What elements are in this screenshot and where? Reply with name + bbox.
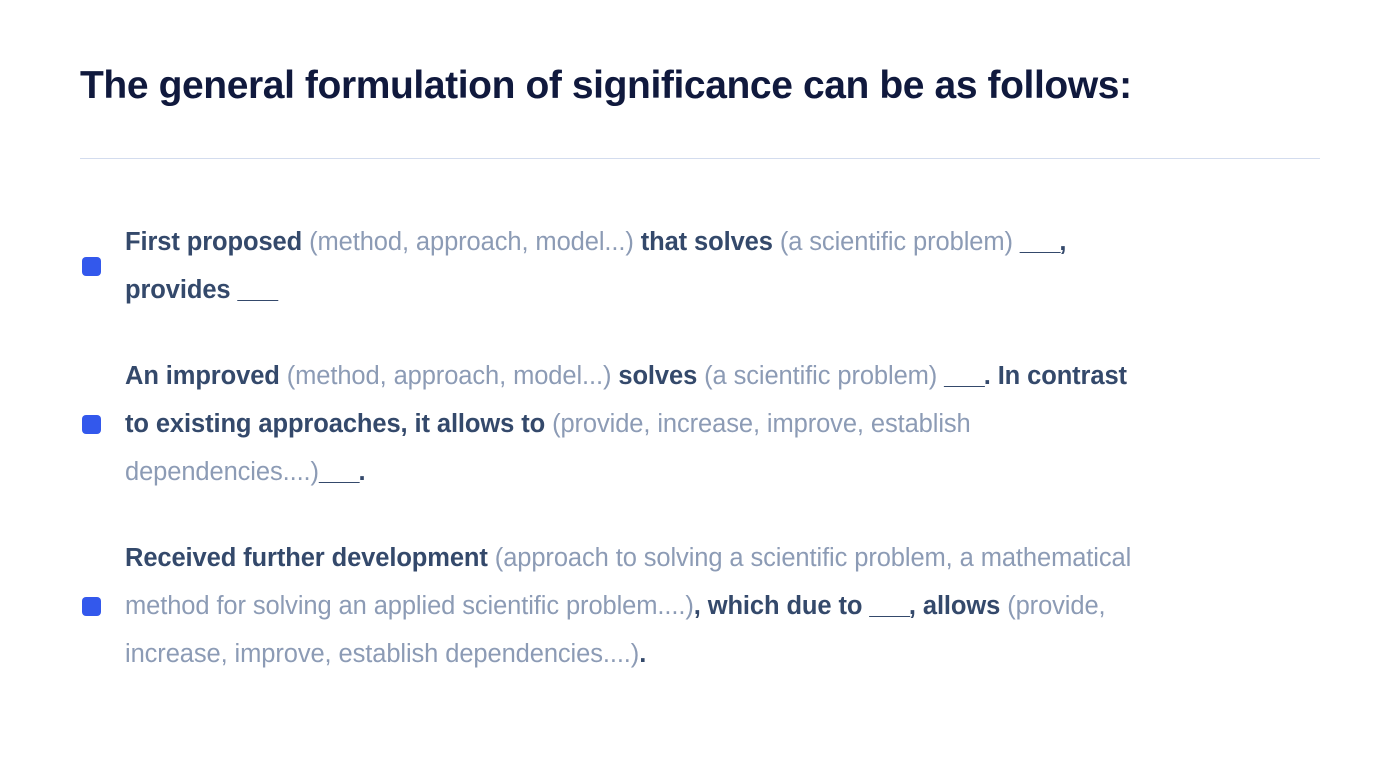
- list-item-text: First proposed (method, approach, model.…: [125, 218, 1153, 314]
- bullet-square-icon: [82, 415, 101, 434]
- list-item: An improved (method, approach, model...)…: [0, 352, 1400, 496]
- bullet-square-icon: [82, 597, 101, 616]
- list-item: Received further development (approach t…: [0, 534, 1400, 678]
- list-item: First proposed (method, approach, model.…: [0, 218, 1400, 314]
- slide-header: The general formulation of significance …: [0, 0, 1400, 159]
- list-item-text: Received further development (approach t…: [125, 534, 1153, 678]
- bullet-square-icon: [82, 257, 101, 276]
- slide: The general formulation of significance …: [0, 0, 1400, 774]
- list-item-text: An improved (method, approach, model...)…: [125, 352, 1153, 496]
- header-divider: [80, 158, 1320, 159]
- bullet-list: First proposed (method, approach, model.…: [0, 218, 1400, 678]
- page-title: The general formulation of significance …: [80, 62, 1320, 110]
